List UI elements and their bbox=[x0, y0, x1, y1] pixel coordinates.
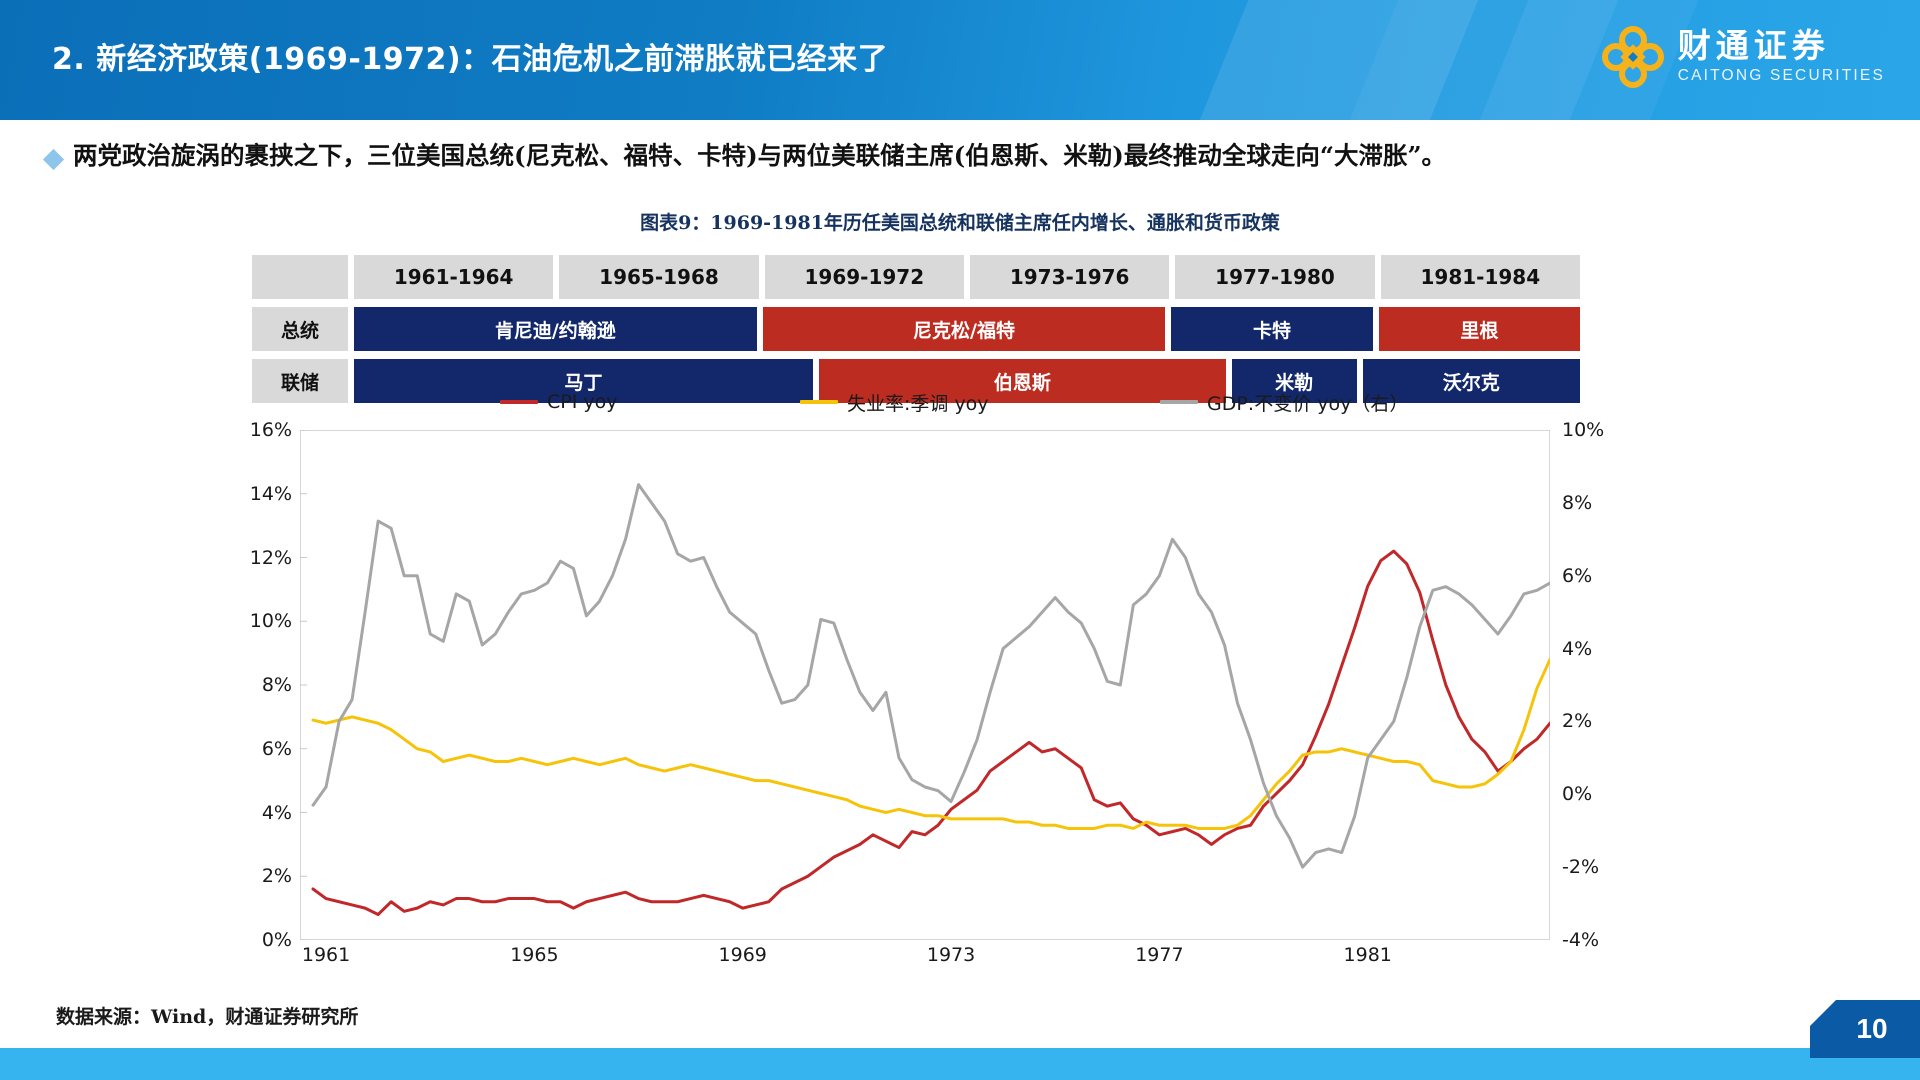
y-right-tick-0%: 0% bbox=[1562, 783, 1622, 805]
y-left-tick-6%: 6% bbox=[240, 738, 292, 760]
y-right-tick-10%: 10% bbox=[1562, 419, 1622, 441]
page-number-badge: 10 bbox=[1810, 1000, 1920, 1058]
page-number: 10 bbox=[1842, 1013, 1887, 1045]
y-left-tick-16%: 16% bbox=[240, 419, 292, 441]
y-left-tick-14%: 14% bbox=[240, 483, 292, 505]
timeline-row-label: 联储 bbox=[252, 359, 348, 403]
timeline-row-label: 总统 bbox=[252, 307, 348, 351]
page-title: 2. 新经济政策(1969-1972)：石油危机之前滞胀就已经来了 bbox=[52, 34, 888, 78]
logo-english-name: CAITONG SECURITIES bbox=[1678, 67, 1885, 85]
x-tick-1969: 1969 bbox=[719, 944, 767, 966]
legend-item-2: GDP:不变价 yoy（右） bbox=[1160, 389, 1408, 416]
y-left-tick-10%: 10% bbox=[240, 610, 292, 632]
chart-plot-area bbox=[300, 430, 1550, 940]
timeline-period-1973-1976: 1973-1976 bbox=[970, 255, 1169, 299]
timeline-period-cells: 1961-19641965-19681969-19721973-19761977… bbox=[354, 255, 1580, 299]
timeline-period-1981-1984: 1981-1984 bbox=[1381, 255, 1580, 299]
timeline-table: 1961-19641965-19681969-19721973-19761977… bbox=[252, 255, 1580, 403]
legend-label: GDP:不变价 yoy（右） bbox=[1207, 389, 1408, 416]
legend-swatch-icon bbox=[500, 400, 538, 404]
x-tick-1977: 1977 bbox=[1135, 944, 1183, 966]
y-right-tick-6%: 6% bbox=[1562, 565, 1622, 587]
diamond-bullet-icon bbox=[43, 149, 64, 170]
y-left-tick-12%: 12% bbox=[240, 547, 292, 569]
timeline-row: 总统肯尼迪/约翰逊尼克松/福特卡特里根 bbox=[252, 307, 1580, 351]
timeline-period-1965-1968: 1965-1968 bbox=[559, 255, 758, 299]
exhibit-title: 图表9：1969-1981年历任美国总统和联储主席任内增长、通胀和货币政策 bbox=[0, 208, 1920, 235]
timeline-period-1961-1964: 1961-1964 bbox=[354, 255, 553, 299]
legend-label: CPI yoy bbox=[547, 391, 617, 413]
timeline-cell-肯尼迪/约翰逊: 肯尼迪/约翰逊 bbox=[354, 307, 757, 351]
legend-swatch-icon bbox=[800, 400, 838, 404]
x-tick-1981: 1981 bbox=[1344, 944, 1392, 966]
legend-label: 失业率:季调 yoy bbox=[847, 389, 989, 416]
timeline-cell-卡特: 卡特 bbox=[1171, 307, 1372, 351]
legend-item-0: CPI yoy bbox=[500, 391, 617, 413]
y-right-tick-8%: 8% bbox=[1562, 492, 1622, 514]
y-left-tick-8%: 8% bbox=[240, 674, 292, 696]
timeline-period-row: 1961-19641965-19681969-19721973-19761977… bbox=[252, 255, 1580, 299]
x-tick-1965: 1965 bbox=[510, 944, 558, 966]
y-axis-right: -4%-2%0%2%4%6%8%10% bbox=[1562, 430, 1622, 940]
timeline-cell-里根: 里根 bbox=[1379, 307, 1580, 351]
timeline-row-cells: 肯尼迪/约翰逊尼克松/福特卡特里根 bbox=[354, 307, 1580, 351]
y-right-tick--4%: -4% bbox=[1562, 929, 1622, 951]
y-right-tick--2%: -2% bbox=[1562, 856, 1622, 878]
legend-item-1: 失业率:季调 yoy bbox=[800, 389, 989, 416]
key-point-row: 两党政治旋涡的裹挟之下，三位美国总统(尼克松、福特、卡特)与两位美联储主席(伯恩… bbox=[46, 140, 1886, 172]
x-tick-1973: 1973 bbox=[927, 944, 975, 966]
chart-svg bbox=[300, 430, 1550, 940]
series-line-CPI yoy bbox=[313, 468, 1550, 914]
y-right-tick-2%: 2% bbox=[1562, 710, 1622, 732]
legend-swatch-icon bbox=[1160, 400, 1198, 404]
footer-bar bbox=[0, 1048, 1920, 1080]
y-left-tick-0%: 0% bbox=[240, 929, 292, 951]
data-source-note: 数据来源：Wind，财通证券研究所 bbox=[56, 1002, 358, 1029]
timeline-cell-尼克松/福特: 尼克松/福特 bbox=[763, 307, 1166, 351]
series-line-GDP:不变价 yoy（右） bbox=[313, 481, 1550, 904]
y-left-tick-4%: 4% bbox=[240, 802, 292, 824]
y-left-tick-2%: 2% bbox=[240, 865, 292, 887]
y-right-tick-4%: 4% bbox=[1562, 638, 1622, 660]
timeline-corner-cell bbox=[252, 255, 348, 299]
caitong-emblem-icon bbox=[1602, 26, 1664, 88]
brand-logo: 财通证券 CAITONG SECURITIES bbox=[1602, 26, 1885, 88]
y-axis-left: 0%2%4%6%8%10%12%14%16% bbox=[240, 430, 292, 940]
page-header: 2. 新经济政策(1969-1972)：石油危机之前滞胀就已经来了 财通证券 C… bbox=[0, 0, 1920, 120]
timeline-period-1969-1972: 1969-1972 bbox=[765, 255, 964, 299]
plot-frame bbox=[301, 431, 1550, 940]
key-point-text: 两党政治旋涡的裹挟之下，三位美国总统(尼克松、福特、卡特)与两位美联储主席(伯恩… bbox=[73, 140, 1446, 172]
x-axis: 196119651969197319771981 bbox=[300, 944, 1550, 974]
timeline-period-1977-1980: 1977-1980 bbox=[1175, 255, 1374, 299]
logo-chinese-name: 财通证券 bbox=[1678, 29, 1830, 64]
x-tick-1961: 1961 bbox=[302, 944, 350, 966]
